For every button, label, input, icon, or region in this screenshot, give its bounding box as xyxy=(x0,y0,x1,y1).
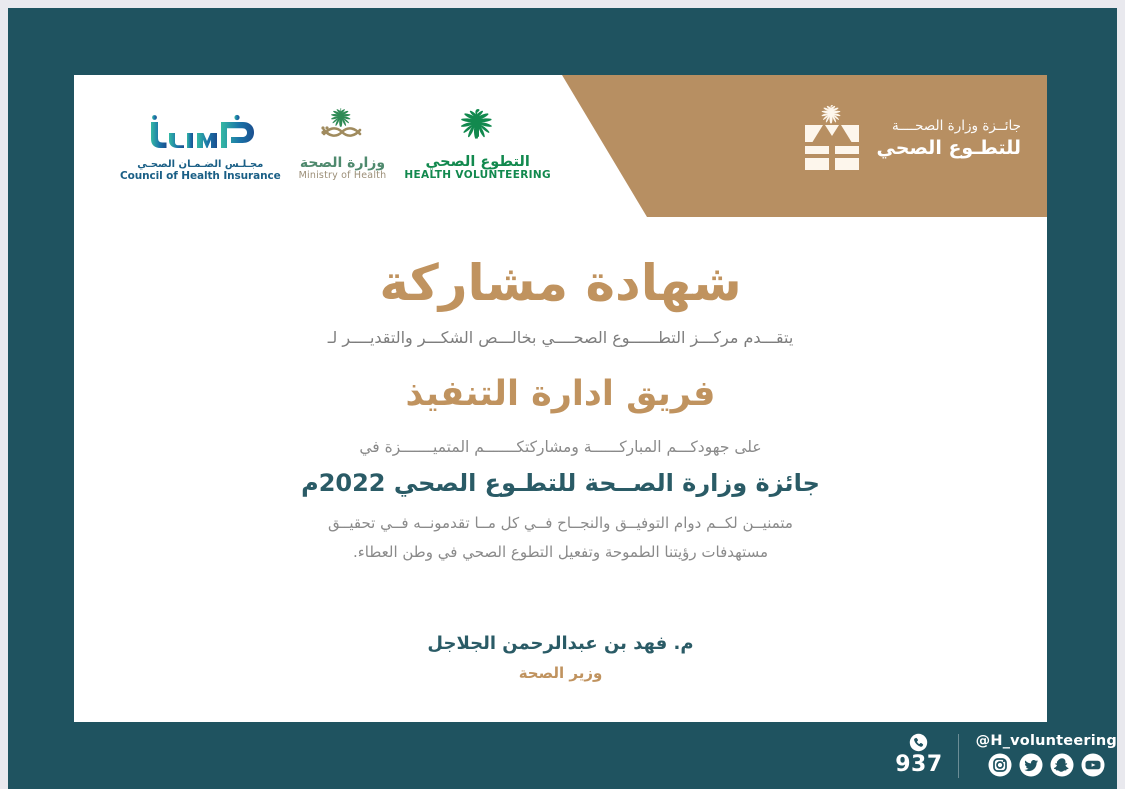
certificate-card: التطوع الصحي HEALTH VOLUNTEERING xyxy=(74,75,1047,722)
header-logo-group: التطوع الصحي HEALTH VOLUNTEERING xyxy=(120,103,551,182)
footer-social-group: @H_volunteering xyxy=(976,734,1117,777)
signer-name: م. فهد بن عبدالرحمن الجلاجل xyxy=(74,630,1047,657)
certificate-wish-line-1: متمنيــن لكــم دوام التوفيــق والنجــاح … xyxy=(74,509,1047,538)
certificate-frame: التطوع الصحي HEALTH VOLUNTEERING xyxy=(8,8,1117,789)
footer-social-icons xyxy=(988,753,1105,777)
certificate-body: شهادة مشاركة يتقـــدم مركـــز التطــــــ… xyxy=(74,255,1047,567)
award-logo-line2: للتطـوع الصحي xyxy=(877,136,1021,162)
logo-hv-english: HEALTH VOLUNTEERING xyxy=(404,170,551,182)
certificate-recipient-name: فريق ادارة التنفيذ xyxy=(74,373,1047,415)
certificate-award-name: جائزة وزارة الصــحة للتطـوع الصحي 2022م xyxy=(74,466,1047,501)
logo-moh-arabic: وزارة الصحة xyxy=(299,156,387,171)
instagram-icon[interactable] xyxy=(988,753,1012,777)
logo-health-volunteering: التطوع الصحي HEALTH VOLUNTEERING xyxy=(404,103,551,182)
award-logo-line1: جائــزة وزارة الصحــــة xyxy=(877,116,1021,136)
logo-council-of-health-insurance: مجـلـس الضـمـان الصحـي Council of Health… xyxy=(120,114,281,182)
logo-chi-arabic: مجـلـس الضـمـان الصحـي xyxy=(120,159,281,170)
logo-ministry-of-health: وزارة الصحة Ministry of Health xyxy=(299,104,387,182)
phone-icon xyxy=(909,733,928,752)
award-logo-text: جائــزة وزارة الصحــــة للتطـوع الصحي xyxy=(877,116,1021,162)
snapchat-icon[interactable] xyxy=(1050,753,1074,777)
certificate-wish-line-2: مستهدفات رؤيتنا الطموحة وتفعيل التطوع ال… xyxy=(74,538,1047,567)
youtube-icon[interactable] xyxy=(1081,753,1105,777)
logo-chi-english: Council of Health Insurance xyxy=(120,170,281,182)
moh-palm-swords-icon xyxy=(304,104,380,154)
footer-bar: 937 @H_volunteering xyxy=(8,722,1117,789)
footer-divider xyxy=(958,734,959,778)
daman-wordmark-icon xyxy=(141,114,259,156)
logo-moh-english: Ministry of Health xyxy=(299,171,387,182)
award-logo: جائــزة وزارة الصحــــة للتطـوع الصحي xyxy=(801,103,1021,175)
certificate-intro-line: يتقـــدم مركـــز التطــــــوع الصحــــي … xyxy=(74,325,1047,351)
logo-hv-arabic: التطوع الصحي xyxy=(404,155,551,170)
certificate-title: شهادة مشاركة xyxy=(74,255,1047,311)
twitter-icon[interactable] xyxy=(1019,753,1043,777)
signer-title: وزير الصحة xyxy=(74,661,1047,685)
palm-tree-icon xyxy=(430,103,526,153)
award-vest-palm-icon xyxy=(801,103,863,175)
footer-social-handle: @H_volunteering xyxy=(976,734,1117,750)
footer-phone-group: 937 xyxy=(895,733,942,777)
signature-block: م. فهد بن عبدالرحمن الجلاجل وزير الصحة xyxy=(74,630,1047,685)
footer-phone-number[interactable]: 937 xyxy=(895,753,942,777)
certificate-reason-line: على جهودكـــم المباركــــــة ومشاركتكـــ… xyxy=(74,435,1047,461)
